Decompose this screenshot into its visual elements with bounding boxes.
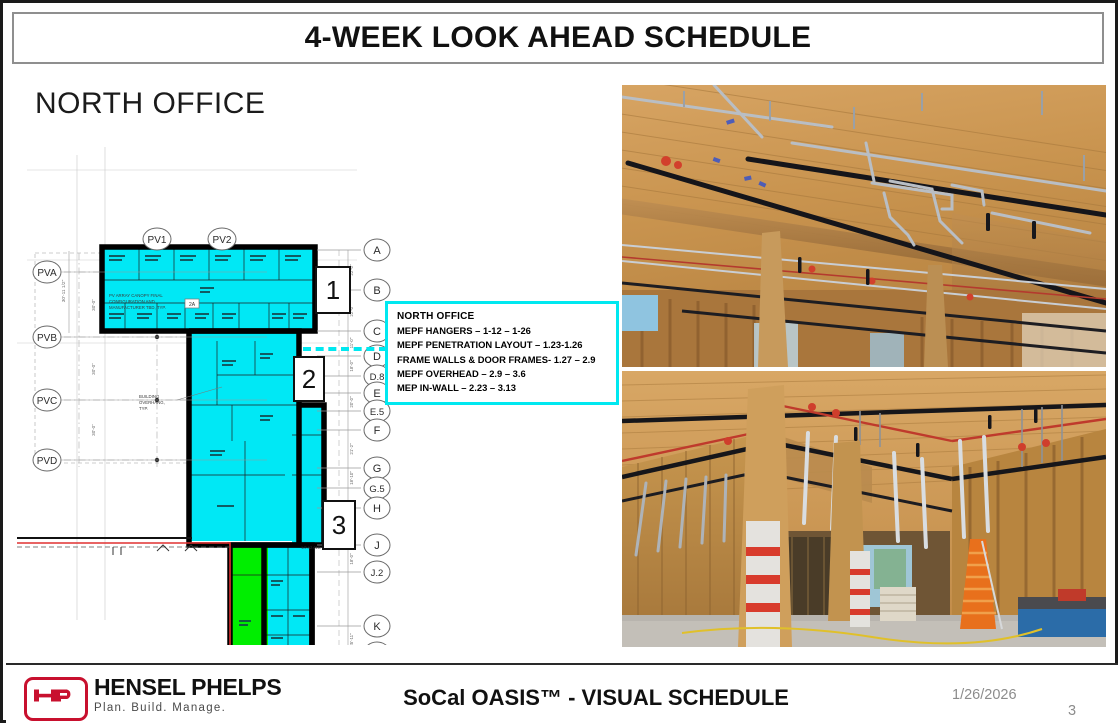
grid-bubble-PVB: PVB [37, 333, 57, 344]
svg-text:18'-10": 18'-10" [349, 471, 354, 485]
hensel-phelps-logo-icon [24, 677, 88, 721]
grid-bubble-PV2: PV2 [213, 235, 232, 246]
footer-date: 1/26/2026 [952, 687, 1017, 703]
svg-text:BUILDING: BUILDING [139, 394, 160, 399]
plan-note-overhang: BUILDING OVERHANG, TYP. [139, 394, 165, 411]
grid-bubble-J2: J.2 [371, 568, 384, 579]
callout-task-2: MEPF PENETRATION LAYOUT – 1.23-1.26 [397, 338, 616, 352]
svg-text:18'-0": 18'-0" [349, 360, 354, 372]
brand-tagline: Plan. Build. Manage. [94, 702, 281, 714]
callout-task-5: MEP IN-WALL – 2.23 – 3.13 [397, 381, 616, 395]
svg-text:20'-0": 20'-0" [349, 396, 354, 408]
photo-interior-framing [622, 371, 1106, 647]
slide-footer: HENSEL PHELPS Plan. Build. Manage. SoCal… [6, 663, 1118, 723]
grid-bubble-E: E [373, 388, 380, 400]
detail-tag-2a: 2A [185, 299, 199, 308]
svg-text:TYP.: TYP. [139, 406, 148, 411]
grid-bubble-PVC: PVC [37, 396, 58, 407]
grid-bubble-PVD: PVD [37, 456, 58, 467]
brand-name: HENSEL PHELPS [94, 674, 281, 701]
svg-text:18'-0": 18'-0" [349, 553, 354, 565]
svg-text:PV ARRAY CANOPY FINAL: PV ARRAY CANOPY FINAL [109, 293, 163, 298]
grid-bubble-PVA: PVA [37, 268, 57, 279]
callout-task-3: FRAME WALLS & DOOR FRAMES- 1.27 – 2.9 [397, 353, 616, 367]
slide-title-box: 4-WEEK LOOK AHEAD SCHEDULE [12, 12, 1104, 64]
plan-area-marker-1-label: 1 [326, 275, 340, 306]
svg-text:OVERHANG,: OVERHANG, [139, 400, 165, 405]
svg-text:2A: 2A [189, 302, 196, 308]
footer-page-number: 3 [1068, 703, 1076, 719]
svg-text:CONFIGURATION AND: CONFIGURATION AND [109, 299, 155, 304]
plan-dim-left: 30'-11 1/2" [61, 279, 67, 302]
footer-project-title: SoCal OASIS™ - VISUAL SCHEDULE [336, 685, 856, 711]
callout-title: NORTH OFFICE [397, 310, 616, 324]
grid-bubble-C: C [373, 326, 381, 338]
svg-text:1/2 A2.01B: 1/2 A2.01B [301, 545, 321, 550]
grid-bubble-A: A [373, 245, 381, 257]
brand-block: HENSEL PHELPS Plan. Build. Manage. [94, 674, 281, 714]
plan-area-marker-2-label: 2 [302, 364, 316, 395]
grid-bubble-D8: D.8 [370, 372, 385, 383]
plan-area-marker-3-label: 3 [332, 510, 346, 541]
callout-leader-line [303, 347, 387, 351]
plan-area-marker-1: 1 [315, 266, 351, 314]
svg-text:30'-0": 30'-0" [91, 299, 96, 311]
plan-area-marker-3: 3 [322, 500, 356, 550]
grid-bubble-B: B [373, 285, 380, 297]
svg-text:30'-0": 30'-0" [91, 363, 96, 375]
grid-bubble-PV1: PV1 [148, 235, 167, 246]
callout-task-4: MEPF OVERHEAD – 2.9 – 3.6 [397, 367, 616, 381]
page-title: 4-WEEK LOOK AHEAD SCHEDULE [305, 21, 812, 55]
grid-bubble-K: K [373, 621, 381, 633]
grid-bubble-G: G [373, 463, 382, 475]
grid-bubble-H: H [373, 503, 381, 515]
callout-task-1: MEPF HANGERS – 1-12 – 1-26 [397, 324, 616, 338]
grid-bubble-G5: G.5 [369, 484, 384, 495]
photo-mass-timber-ceiling [622, 85, 1106, 367]
svg-text:25'-11": 25'-11" [349, 633, 354, 645]
svg-text:21'-2": 21'-2" [349, 443, 354, 455]
grid-bubble-E5: E.5 [370, 407, 384, 418]
plan-area-marker-2: 2 [293, 356, 325, 402]
grid-bubble-F: F [374, 425, 381, 437]
grid-bubble-J: J [374, 540, 380, 552]
grid-bubble-D: D [373, 351, 381, 363]
svg-text:30'-0": 30'-0" [91, 424, 96, 436]
svg-text:MANUFACTURER TBD, TYP.: MANUFACTURER TBD, TYP. [109, 305, 166, 310]
slide: 4-WEEK LOOK AHEAD SCHEDULE NORTH OFFICE [0, 0, 1118, 723]
schedule-callout-box: NORTH OFFICE MEPF HANGERS – 1-12 – 1-26 … [385, 301, 619, 405]
